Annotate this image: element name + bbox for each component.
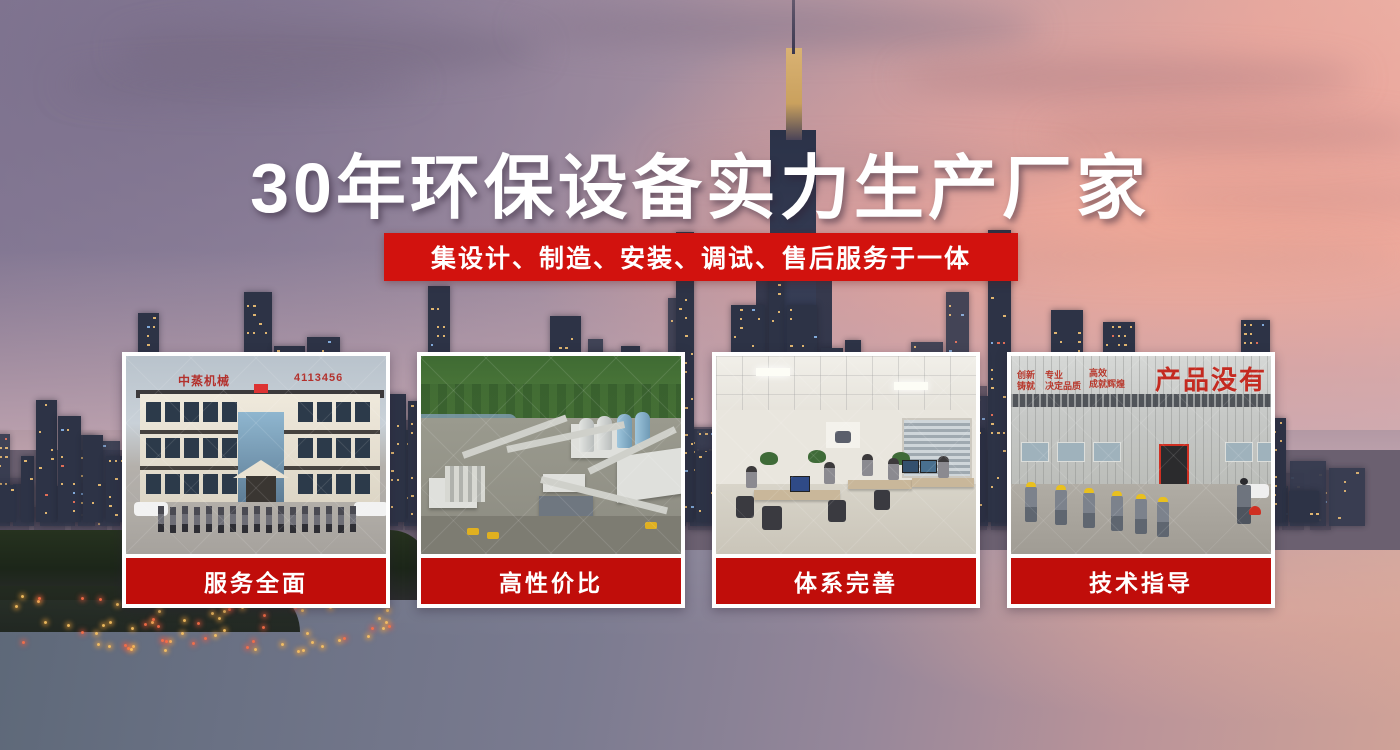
window-light [1244,333,1247,335]
desk [848,480,912,489]
window-light [45,404,47,406]
window-light [802,345,804,347]
stack-array [445,466,485,502]
monitor [920,460,937,473]
window-light [61,429,64,431]
worker [1111,491,1123,531]
window-light [73,510,75,512]
shore-light [338,639,341,642]
building [0,485,16,522]
staff-member [230,506,236,532]
worker [1157,497,1169,537]
wall-art [826,422,860,448]
staff-member [266,507,272,533]
loader-vehicle [467,528,479,535]
window-light [1060,341,1062,343]
building-window [298,402,313,422]
building-window [146,474,161,494]
subtitle-text: 集设计、制造、安装、调试、售后服务于一体 [431,239,971,275]
window-light [565,347,568,349]
supervisor [1237,478,1251,524]
window-light [115,514,118,516]
factory-slogan-left: 创新铸就 [1017,370,1035,392]
window-light [153,326,155,328]
ceiling-light [894,382,928,390]
wall-vent-slots [1011,394,1271,407]
staff-member [182,506,188,532]
employee [938,456,949,478]
window-light [1130,326,1132,328]
shore-light [152,618,155,621]
building-window [146,402,161,422]
window-light [103,445,106,447]
shore-light [211,612,214,615]
window-light [1356,472,1359,474]
factory-window [1021,442,1049,462]
window-light [997,342,1000,344]
window-light [790,318,792,320]
feature-card[interactable]: 产品没有 创新铸就 专业决定品质 高效成就辉煌 技术指导 [1007,352,1275,608]
potted-plant [808,450,826,463]
window-light [758,318,760,320]
window-light [1106,344,1108,346]
staff-member [326,506,332,532]
chair [762,506,782,530]
shore-light [109,621,112,624]
shore-light [99,598,102,601]
staff-member [302,506,308,532]
building-window [355,474,370,494]
window-light [109,460,111,462]
building-window [336,438,351,458]
desk [912,478,974,487]
window-light [740,318,742,320]
window-light [1003,315,1006,317]
window-light [61,483,63,485]
employee [888,458,899,480]
window-light [778,293,781,295]
card-caption: 高性价比 [421,558,681,604]
building-window [298,438,313,458]
window-light [11,489,14,491]
building-window [317,438,332,458]
window-light [253,305,256,307]
shore-light [22,641,25,644]
window-light [30,478,33,480]
window-light [24,460,27,462]
window-light [39,431,41,433]
window-light [153,317,156,319]
window-light [147,344,150,346]
window-light [1124,335,1126,337]
worker [1055,485,1067,525]
worker [1135,494,1147,534]
factory-slogan-mid: 专业决定品质 [1045,370,1081,392]
shore-light [262,626,265,629]
window-light [45,512,47,514]
building-window [165,402,180,422]
staff-member [314,507,320,533]
window-light [991,297,994,299]
window-light [790,345,793,347]
window-light [1078,332,1081,334]
window-light [1054,332,1057,334]
window-light [1250,333,1252,335]
window-light [1003,342,1005,344]
worker [1083,488,1095,528]
building-window [203,474,218,494]
window-light [259,323,262,325]
staff-member [194,507,200,533]
card-caption: 技术指导 [1011,558,1271,604]
window-light [147,326,150,328]
feature-card[interactable]: 高性价比 [417,352,685,608]
window-light [431,344,433,346]
shore-light [371,627,374,630]
window-light [115,460,117,462]
window-light [247,332,249,334]
building-sign-text: 中蒸机械 [178,372,230,389]
employee [746,466,757,488]
staff-member [242,507,248,533]
window-light [61,456,63,458]
building-window [355,438,370,458]
building [83,435,103,522]
factory-window [1093,442,1121,462]
window-light [752,345,754,347]
window-light [247,305,249,307]
feature-card-row: 中蒸机械 4113456 服务全面 [122,352,1278,608]
window-light [1244,342,1246,344]
window-light [1280,422,1282,424]
window-light [437,335,439,337]
window-light [671,320,673,322]
red-helmet-icon [1249,506,1261,515]
staff-member [170,507,176,533]
window-light [961,314,964,316]
entry-door [246,476,276,502]
window-light [991,342,993,344]
shore-light [197,622,200,625]
shore-light [130,648,133,651]
window-light [73,501,75,503]
building-window [298,474,313,494]
window-light [51,449,53,451]
window-light [51,458,54,460]
factory-banner-text: 产品没有 [1155,360,1267,397]
window-light [0,447,2,449]
window-light [949,305,951,307]
factory-window [1057,442,1085,462]
staff-member [158,506,164,532]
window-light [109,505,112,507]
building-window [336,402,351,422]
window-light [1262,324,1264,326]
window-light [685,317,687,319]
shore-light [157,625,160,628]
factory-window [1225,442,1253,462]
tower-spire [792,0,795,54]
window-light [67,429,69,431]
window-light [734,336,736,338]
window-light [1344,490,1346,492]
page-title: 30年环保设备实力生产厂家 [0,132,1400,233]
tower-crown [786,48,802,140]
window-light [685,299,687,301]
shore-light [158,610,161,613]
window-light [1256,342,1258,344]
shore-light [281,643,284,646]
building-window [355,402,370,422]
ceiling-grid [716,356,976,414]
window-light [1078,341,1081,343]
building [58,416,81,522]
window-light [752,309,755,311]
window-light [115,478,118,480]
window-light [685,335,688,337]
building-window [222,438,237,458]
window-light [39,467,42,469]
building-window [336,474,351,494]
card-caption: 体系完善 [716,558,976,604]
card-photo-office [716,356,976,554]
window-light [778,284,781,286]
loader-vehicle [487,532,499,539]
window-light [790,309,792,311]
building-window [203,438,218,458]
building-phone-text: 4113456 [294,372,343,384]
window-light [443,335,445,337]
shore-light [102,624,105,627]
chair [736,496,754,518]
window-light [949,314,951,316]
building-window [165,474,180,494]
window-light [0,456,2,458]
card-photo-workers: 产品没有 创新铸就 专业决定品质 高效成就辉煌 [1011,356,1271,554]
window-light [814,336,817,338]
worker [1025,482,1037,522]
window-light [1316,513,1319,515]
shore-light [386,609,389,612]
factory-slogan-right: 高效成就辉煌 [1089,368,1125,390]
shore-light [181,632,184,635]
window-light [73,483,75,485]
window-light [740,327,743,329]
parked-car [354,502,386,516]
window-light [1112,335,1114,337]
building-window [184,402,199,422]
window-light [914,346,916,348]
silo [617,414,632,448]
window-light [571,338,573,340]
window-light [1338,517,1341,519]
building [1289,491,1319,522]
building-window [165,438,180,458]
window-light [679,308,682,310]
window-light [778,311,780,313]
window-light [1118,344,1120,346]
window-light [772,320,774,322]
window-light [1250,324,1252,326]
staff-member [350,506,356,532]
window-light [1250,342,1252,344]
staff-member [278,506,284,532]
window-light [109,496,111,498]
shore-light [81,597,84,600]
card-photo-headquarters: 中蒸机械 4113456 [126,356,386,554]
laptop [790,476,810,492]
window-light [431,308,434,310]
window-light [443,326,445,328]
building-window [184,474,199,494]
window-light [98,484,101,486]
shore-light [306,632,309,635]
window-light [1118,326,1121,328]
window-light [437,326,439,328]
window-light [253,332,255,334]
building-window [317,474,332,494]
card-photo-plant-aerial [421,356,681,554]
window-light [5,456,8,458]
staff-member [206,506,212,532]
window-light [1310,513,1313,515]
shore-light [223,610,226,613]
window-light [1280,440,1282,442]
building-window [203,402,218,422]
building [1329,468,1365,526]
employee [824,462,835,484]
shore-light [67,624,70,627]
ceiling-light [756,368,790,376]
window-light [1112,326,1114,328]
building [36,400,57,522]
card-caption: 服务全面 [126,558,386,604]
flag-icon [254,384,268,393]
window-light [5,438,7,440]
window-light [1244,324,1246,326]
feature-card[interactable]: 体系完善 [712,352,980,608]
window-light [1118,335,1120,337]
staff-member [254,506,260,532]
window-light [265,332,267,334]
shore-light [297,650,300,653]
shore-light [343,637,346,640]
shore-light [169,640,172,643]
plant-yard [421,516,681,554]
window-light [73,492,75,494]
promo-banner: 30年环保设备实力生产厂家 集设计、制造、安装、调试、售后服务于一体 中蒸机械 … [0,0,1400,750]
window-light [955,341,957,343]
window-light [0,465,1,467]
building-window [146,438,161,458]
staff-member [290,507,296,533]
window-light [328,341,331,343]
window-light [147,335,149,337]
window-light [740,309,743,311]
feature-card[interactable]: 中蒸机械 4113456 服务全面 [122,352,390,608]
chair [874,490,890,510]
building [21,456,34,522]
monitor [902,460,919,473]
building-window [184,438,199,458]
window-light [61,465,64,467]
staff-member [338,507,344,533]
loader-vehicle [645,522,657,529]
building-window [317,402,332,422]
window-light [559,347,562,349]
shore-light [131,627,134,630]
subtitle-bar: 集设计、制造、安装、调试、售后服务于一体 [384,233,1018,281]
window-light [92,502,94,504]
shore-light [38,597,41,600]
staff-member [218,507,224,533]
shore-light [21,595,24,598]
chair [828,500,846,522]
building-window [222,402,237,422]
potted-plant [760,452,778,465]
shore-light [44,621,47,624]
shore-light [301,609,304,612]
window-light [45,494,48,496]
window-light [253,314,256,316]
window-light [437,308,439,310]
shore-light [223,629,226,632]
window-light [5,447,8,449]
shore-light [263,614,266,617]
factory-window [1257,442,1271,462]
employee [862,454,873,476]
window-light [1344,481,1346,483]
window-light [1124,344,1127,346]
